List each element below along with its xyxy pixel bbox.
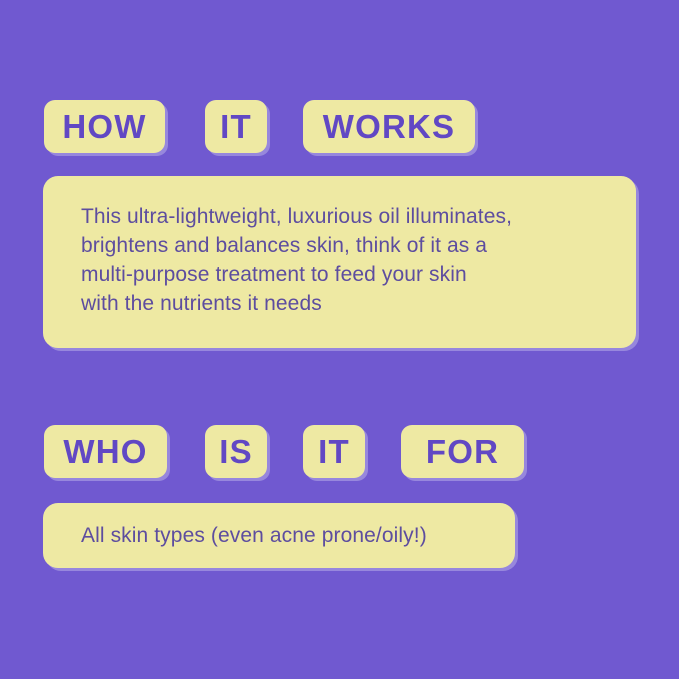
heading-chip-how: HOW xyxy=(44,100,165,153)
heading-chip-for: FOR xyxy=(401,425,524,478)
body-panel-who-is-it-for: All skin types (even acne prone/oily!) xyxy=(43,503,515,568)
heading-chip-label: WORKS xyxy=(323,110,456,143)
heading-chip-label: WHO xyxy=(63,435,147,468)
heading-chip-label: IS xyxy=(219,435,253,468)
heading-row-how-it-works: HOW IT WORKS xyxy=(44,100,475,153)
heading-chip-is: IS xyxy=(205,425,267,478)
infographic-canvas: HOW IT WORKS This ultra-lightweight, lux… xyxy=(0,0,679,679)
heading-chip-label: IT xyxy=(220,110,252,143)
heading-chip-it: IT xyxy=(205,100,267,153)
heading-chip-label: FOR xyxy=(426,435,499,468)
heading-chip-label: IT xyxy=(318,435,350,468)
body-paragraph: This ultra-lightweight, luxurious oil il… xyxy=(81,202,606,318)
body-paragraph: All skin types (even acne prone/oily!) xyxy=(81,521,427,550)
heading-chip-works: WORKS xyxy=(303,100,475,153)
heading-row-who-is-it-for: WHO IS IT FOR xyxy=(44,425,524,478)
heading-chip-who: WHO xyxy=(44,425,167,478)
heading-chip-label: HOW xyxy=(62,110,146,143)
body-panel-how-it-works: This ultra-lightweight, luxurious oil il… xyxy=(43,176,636,348)
heading-chip-it: IT xyxy=(303,425,365,478)
